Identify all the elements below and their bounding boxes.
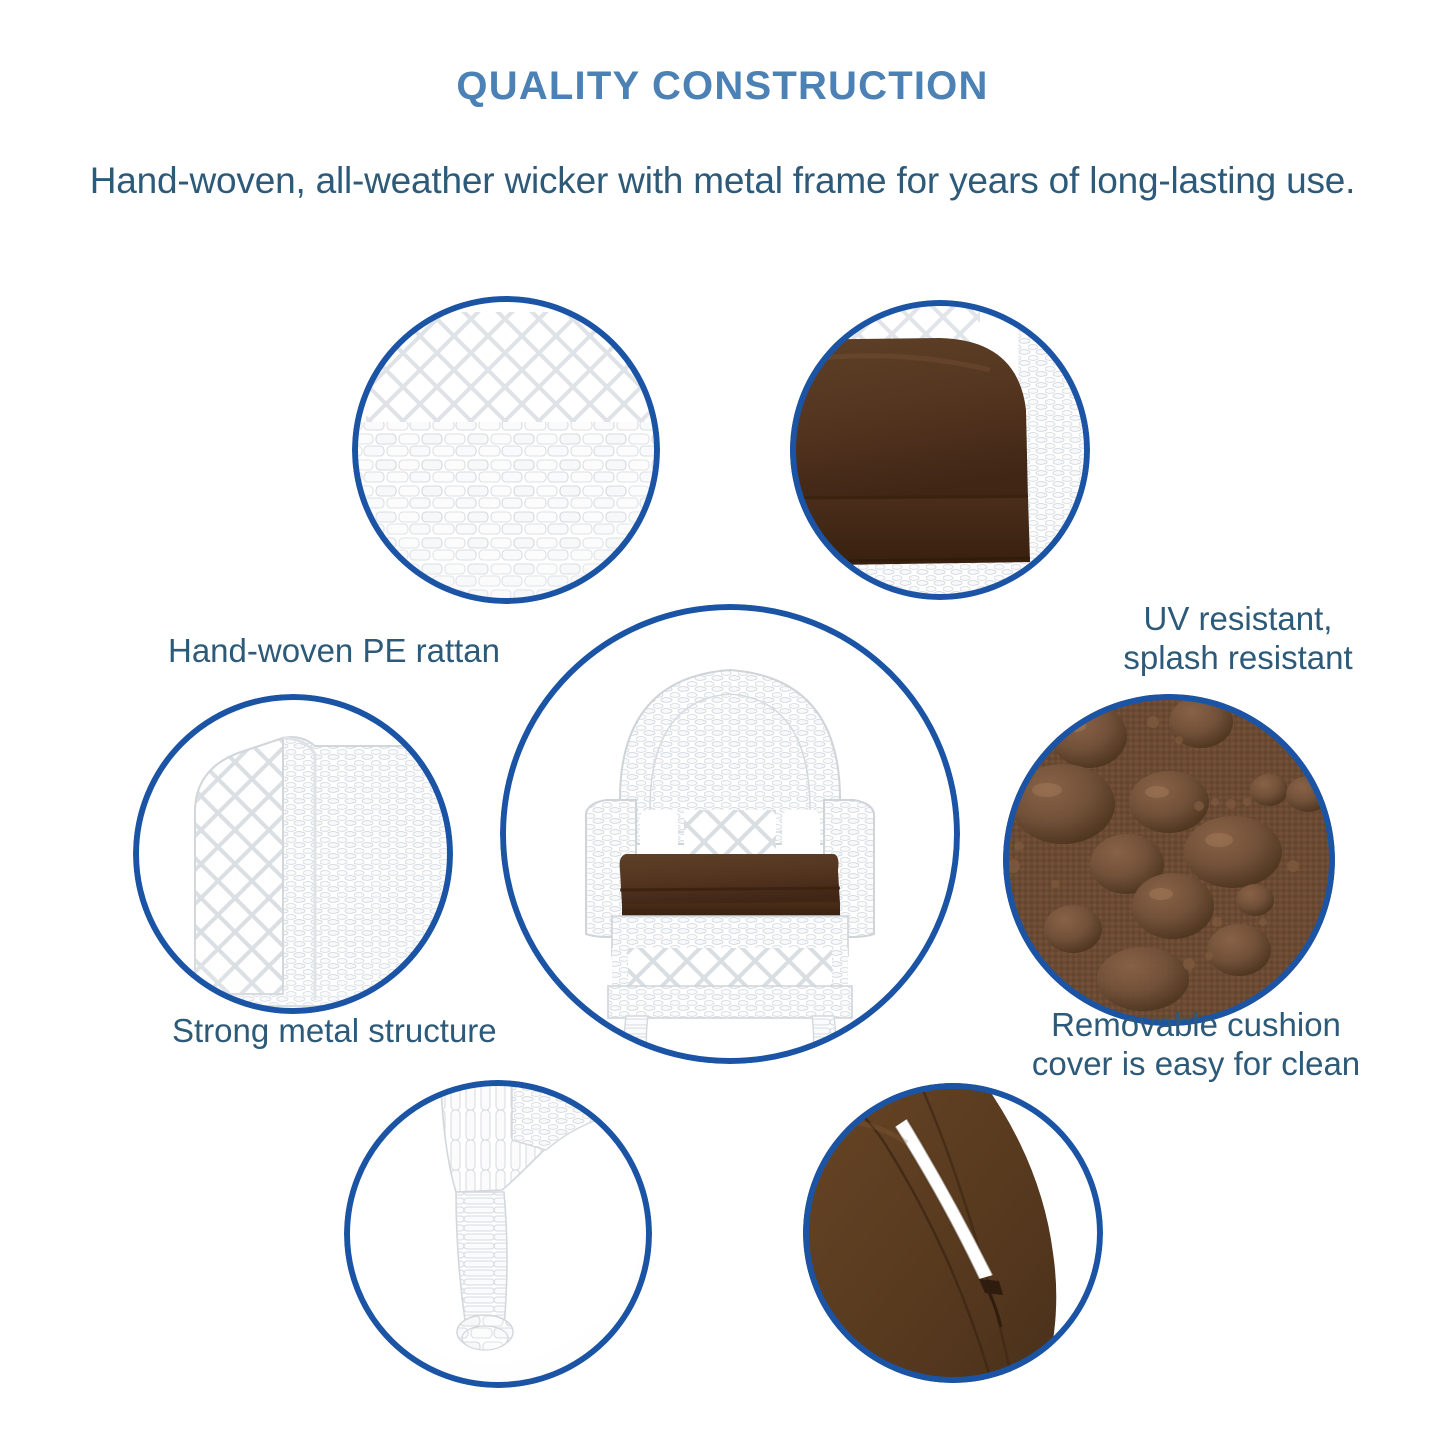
chair-leg-icon	[344, 1080, 652, 1388]
callout-chair[interactable]	[500, 604, 960, 1064]
brown-seat-cushion-icon	[790, 300, 1090, 600]
callout-label-metal: Strong metal structure	[172, 1012, 592, 1051]
wicker-weave-icon	[352, 296, 660, 604]
wicker-armchair-icon	[500, 604, 960, 1064]
infographic-canvas: QUALITY CONSTRUCTION Hand-woven, all-wea…	[0, 0, 1445, 1445]
callout-label-rattan: Hand-woven PE rattan	[168, 632, 588, 671]
callout-uv[interactable]	[1003, 694, 1335, 1026]
page-subtitle: Hand-woven, all-weather wicker with meta…	[0, 160, 1445, 202]
callout-rattan[interactable]	[352, 296, 660, 604]
callout-zipper[interactable]	[803, 1083, 1103, 1383]
callout-cushion[interactable]	[790, 300, 1090, 600]
callout-label-uv: UV resistant, splash resistant	[1038, 600, 1438, 678]
water-droplets-icon	[1003, 694, 1335, 1026]
callout-metal[interactable]	[133, 694, 453, 1014]
zipper-icon	[803, 1083, 1103, 1383]
callout-label-clean: Removable cushion cover is easy for clea…	[996, 1006, 1396, 1084]
wicker-corner-icon	[133, 694, 453, 1014]
callout-leg[interactable]	[344, 1080, 652, 1388]
page-title: QUALITY CONSTRUCTION	[0, 64, 1445, 109]
